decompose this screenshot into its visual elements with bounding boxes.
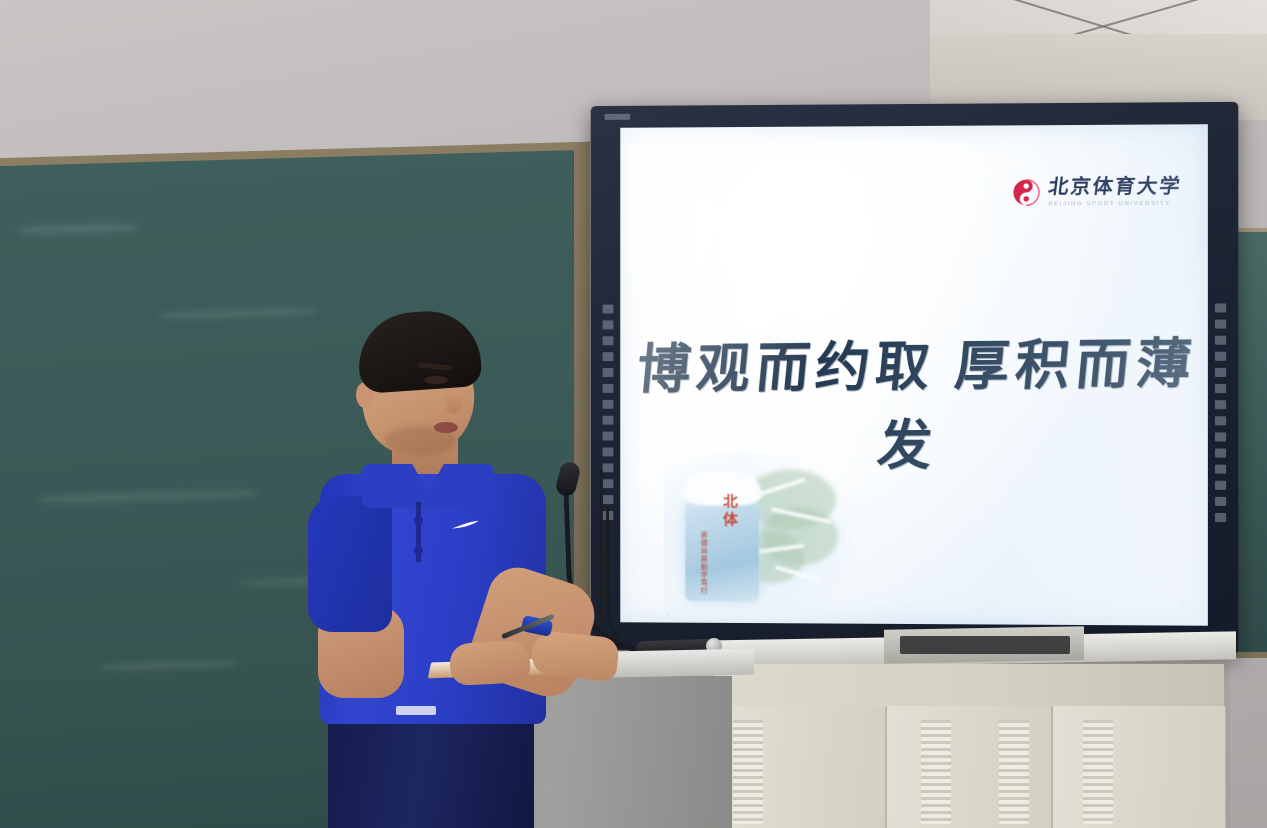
hand-left — [449, 640, 531, 686]
shirt-button — [414, 546, 423, 555]
cabinet-door[interactable] — [714, 706, 886, 828]
shirt-hem-logo — [396, 706, 436, 715]
classroom-scene: 北京体育大学 BEIJING SPORT UNIVERSITY 博观而约取 厚积… — [0, 0, 1267, 828]
shorts — [328, 718, 534, 828]
university-logo: 北京体育大学 BEIJING SPORT UNIVERSITY — [1011, 177, 1181, 208]
bezel-button[interactable] — [603, 400, 614, 409]
bezel-button[interactable] — [603, 352, 614, 361]
bezel-buttons-right[interactable] — [1215, 303, 1226, 522]
university-seal-icon — [1011, 177, 1041, 207]
hair — [355, 308, 482, 394]
bezel-button[interactable] — [603, 336, 614, 345]
mouth — [434, 422, 458, 433]
presentation-slide[interactable]: 北京体育大学 BEIJING SPORT UNIVERSITY 博观而约取 厚积… — [620, 124, 1208, 626]
eye — [424, 376, 448, 384]
bezel-button[interactable] — [603, 447, 614, 456]
bezel-button[interactable] — [1215, 336, 1226, 345]
bezel-button[interactable] — [1215, 513, 1226, 522]
av-equipment — [900, 636, 1070, 654]
vent-louvers — [1083, 720, 1113, 824]
cabinet-door[interactable] — [1052, 706, 1226, 828]
cabinet-door[interactable] — [886, 706, 1052, 828]
bezel-button[interactable] — [603, 384, 614, 393]
bezel-button[interactable] — [603, 305, 614, 314]
chalk-smudge — [98, 659, 238, 671]
stone-side-text: 崇德尚美勤学笃行 — [699, 531, 709, 595]
bezel-button[interactable] — [1215, 416, 1226, 425]
vent-louvers — [921, 720, 951, 824]
sleeve-left — [308, 496, 392, 632]
bezel-button[interactable] — [1215, 320, 1226, 329]
equipment-cabinet — [714, 664, 1224, 828]
chalk-smudge — [158, 307, 318, 319]
bezel-button[interactable] — [1215, 368, 1226, 377]
bezel-button[interactable] — [1215, 400, 1226, 409]
bezel-button[interactable] — [603, 320, 614, 329]
bezel-button[interactable] — [1215, 303, 1226, 312]
bezel-button[interactable] — [603, 368, 614, 377]
stone-monument: 北体 崇德尚美勤学笃行 — [685, 477, 758, 601]
bezel-button[interactable] — [1215, 352, 1226, 361]
chalkboard-right — [1234, 232, 1267, 652]
stone-monument-artwork: 北体 崇德尚美勤学笃行 — [664, 452, 852, 612]
nose — [446, 390, 462, 414]
lining-brand-icon — [450, 518, 484, 530]
chalk-smudge — [18, 222, 138, 235]
chalk-smudge — [38, 489, 258, 504]
university-name-cn: 北京体育大学 — [1047, 177, 1183, 198]
bezel-button[interactable] — [603, 432, 614, 441]
vent-louvers — [733, 720, 763, 824]
bezel-button[interactable] — [1215, 384, 1226, 393]
bezel-button[interactable] — [1215, 497, 1226, 506]
university-name-en: BEIJING SPORT UNIVERSITY — [1048, 201, 1181, 207]
bezel-button[interactable] — [1215, 465, 1226, 474]
bezel-button[interactable] — [1215, 481, 1226, 490]
bezel-button[interactable] — [1215, 449, 1226, 458]
interactive-whiteboard[interactable]: 北京体育大学 BEIJING SPORT UNIVERSITY 博观而约取 厚积… — [591, 102, 1239, 654]
bezel-button[interactable] — [603, 416, 614, 425]
slide-page-number: 19 — [1179, 599, 1189, 609]
shirt-button — [414, 516, 423, 525]
display-brand-label — [605, 114, 631, 120]
vent-louvers — [999, 720, 1029, 824]
bezel-button[interactable] — [1215, 432, 1226, 441]
stone-inscription: 北体 — [719, 493, 740, 529]
